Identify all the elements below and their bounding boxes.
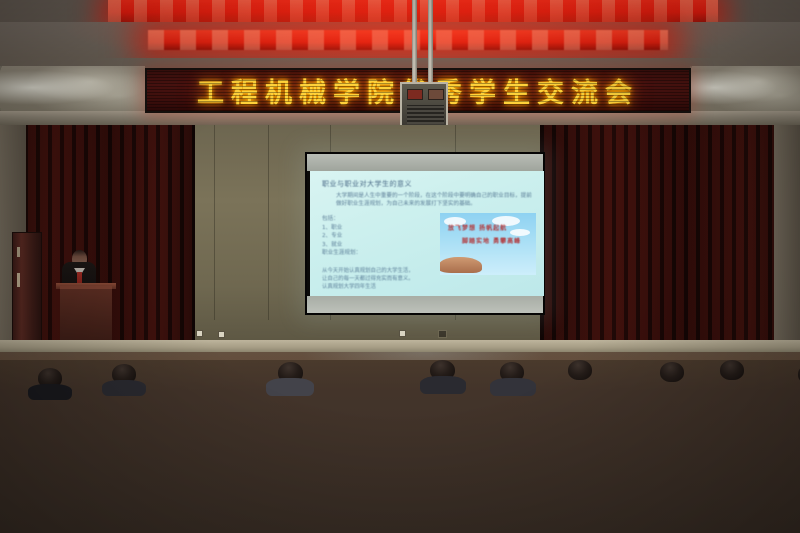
slide-bullet: 包括： — [322, 215, 361, 224]
illustration-foreground — [440, 257, 482, 273]
attendee-head — [720, 360, 744, 380]
projector-housing — [400, 82, 448, 128]
stage-apron — [0, 340, 800, 352]
projection-screen: 职业与职业对大学生的意义 大学期间是人生中重要的一个阶段，在这个阶段中要明确自己… — [305, 152, 545, 315]
attendee-head — [660, 362, 684, 382]
auditorium-photo: 工程机械学院优秀学生交流会 职业与职业对大学生的意义 大学期间是人生中重要的一个… — [0, 0, 800, 533]
stage-side-door[interactable] — [12, 232, 42, 352]
slide-bullet: 2、专业 — [322, 232, 361, 241]
side-wall-right — [774, 125, 800, 365]
projector-indicator-icon — [428, 89, 444, 100]
projector-mount-rod-left — [412, 0, 417, 88]
door-handle-icon — [17, 273, 20, 287]
slide-bullet-list: 包括： 1、职业 2、专业 3、就业 职业生涯规划： — [322, 215, 361, 258]
attendee-shoulders — [266, 378, 314, 396]
slide-bullet: 职业生涯规划： — [322, 249, 361, 258]
marble-wall-panel-right — [690, 66, 800, 111]
door-plate-icon — [17, 247, 20, 257]
screen-top-band — [307, 154, 543, 171]
slide-paragraph: 大学期间是人生中重要的一个阶段，在这个阶段中要明确自己的职业目标，提前做好职业生… — [336, 192, 532, 208]
wall-outlet — [196, 330, 203, 337]
attendee-head — [568, 360, 592, 380]
slide-bullet: 3、就业 — [322, 241, 361, 250]
stage-curtain-right — [540, 125, 800, 350]
slide-bullet: 1、职业 — [322, 224, 361, 233]
projector-lens-icon — [407, 89, 423, 100]
attendee-shoulders — [420, 376, 466, 394]
attendee-shoulders — [28, 384, 72, 400]
slide-illustration: 放飞梦想 扬帆起航 脚踏实地 勇攀高峰 — [440, 213, 536, 275]
marble-wall-panel-left — [0, 66, 145, 111]
audience-seating — [0, 360, 800, 533]
wall-fixture — [438, 330, 447, 338]
wall-outlet — [218, 331, 225, 338]
attendee-shoulders — [490, 378, 536, 396]
presentation-slide: 职业与职业对大学生的意义 大学期间是人生中重要的一个阶段，在这个阶段中要明确自己… — [310, 171, 544, 296]
illustration-caption-2: 脚踏实地 勇攀高峰 — [462, 236, 521, 245]
screen-bottom-band — [307, 296, 543, 313]
slide-footer-line: 让自己的每一天都过得充实而有意义。 — [322, 275, 482, 283]
projector-mount-rod-right — [428, 0, 433, 88]
attendee-shoulders — [102, 380, 146, 396]
projector-vent-grill — [407, 105, 444, 124]
slide-footer-line: 认真规划大学四年生活 — [322, 283, 482, 291]
slide-title: 职业与职业对大学生的意义 — [322, 179, 412, 189]
illustration-caption-1: 放飞梦想 扬帆起航 — [448, 223, 507, 232]
wall-outlet — [399, 330, 406, 337]
ceiling-led-strip-lower — [148, 30, 668, 50]
